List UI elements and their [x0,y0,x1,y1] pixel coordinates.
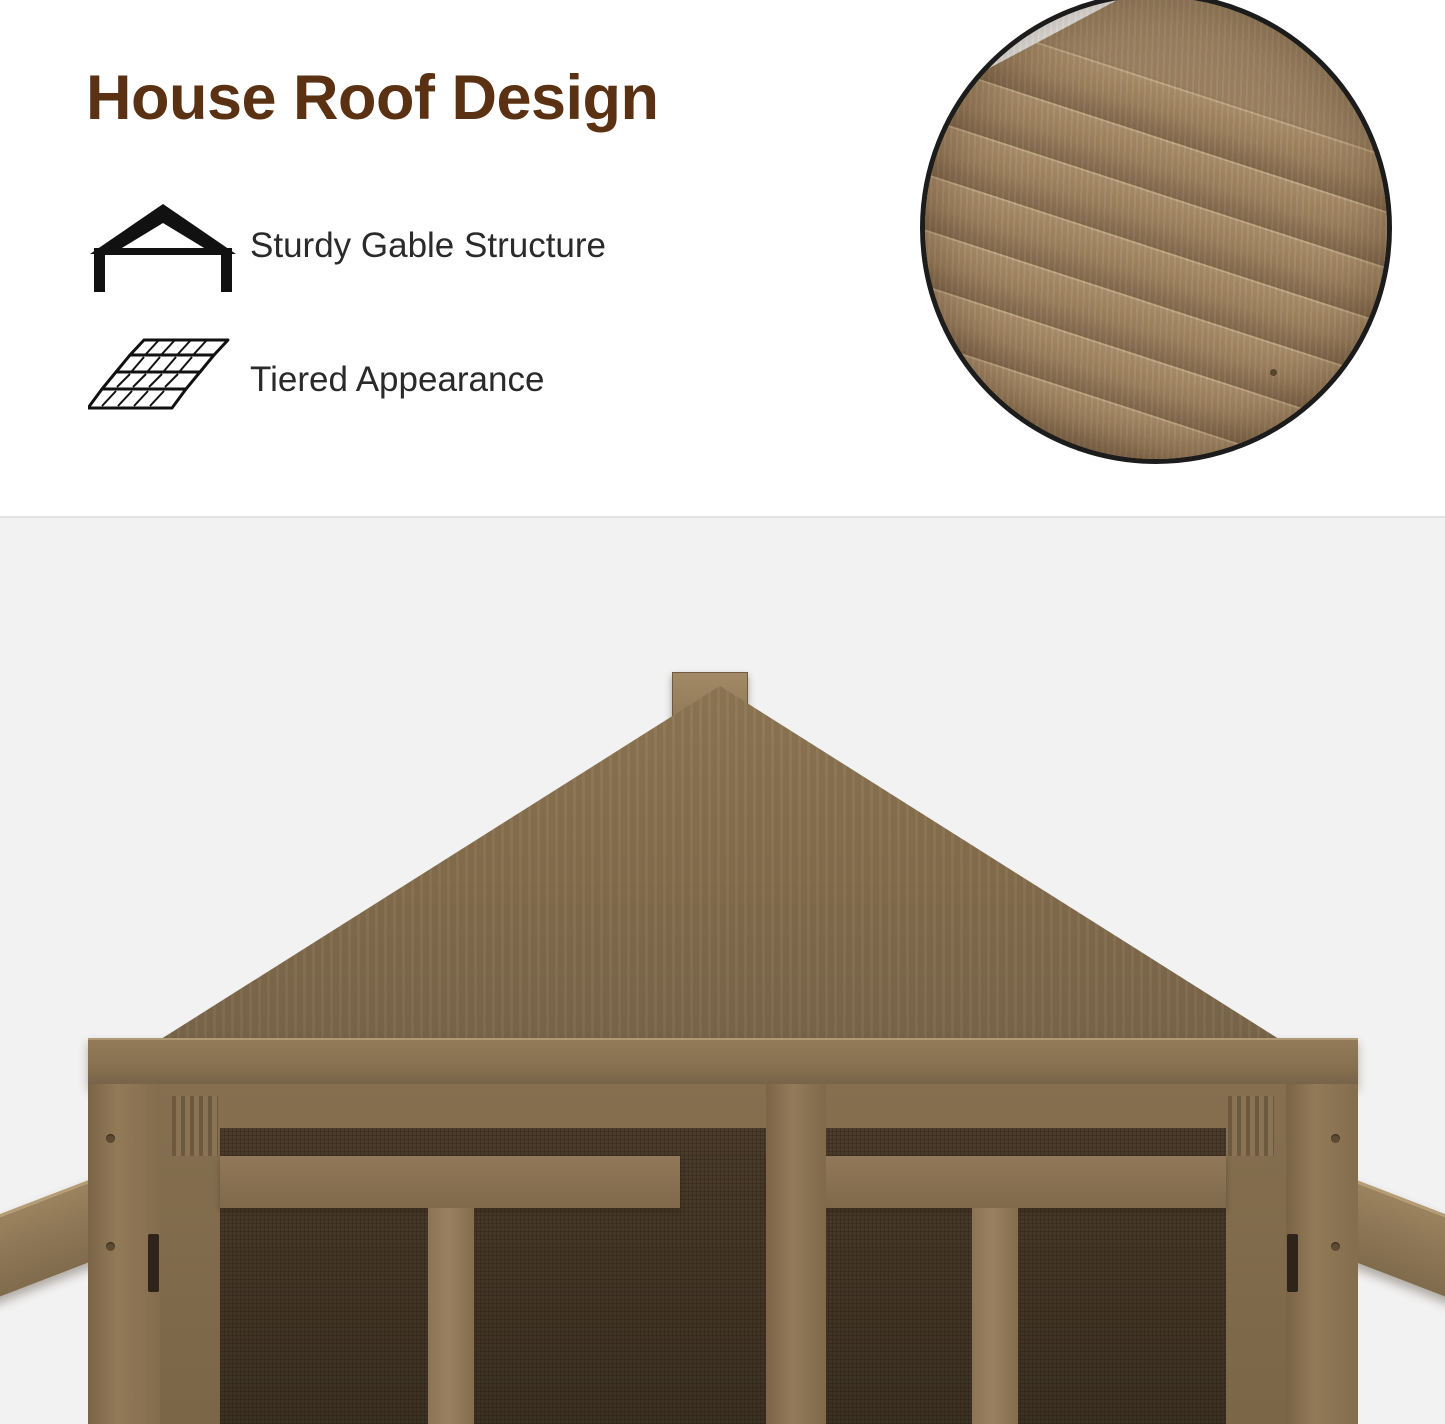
door-rail-right [766,1156,1226,1208]
top-info-panel: House Roof Design Sturdy Gable Structure [0,0,1445,516]
vent-slats-right [1228,1096,1274,1156]
gable-face [150,686,1290,1046]
screw-head [106,1134,115,1143]
wooden-shed-roof-photo [0,518,1445,1424]
door-rail-left [220,1156,680,1208]
vent-slats-left [172,1096,218,1156]
screw-head [106,1242,115,1251]
page-title: House Roof Design [86,62,659,134]
feature-label-tiered: Tiered Appearance [250,360,544,400]
door-hinge-left [148,1234,159,1292]
roof-shingle-closeup-photo [920,0,1392,464]
door-frame [160,1084,1286,1424]
screw-head [1331,1134,1340,1143]
shed-illustration [0,518,1445,1424]
header-beam [88,1038,1358,1086]
feature-label-gable: Sturdy Gable Structure [250,226,606,266]
door-hinge-right [1287,1234,1298,1292]
feature-row-tiered: Tiered Appearance [88,330,544,430]
cabinet-body [88,1084,1358,1424]
tiered-boards-icon [88,330,238,430]
door-stile-right [972,1208,1018,1424]
gable-roof-icon [88,196,238,296]
screw-head [1331,1242,1340,1251]
feature-row-gable: Sturdy Gable Structure [88,196,606,296]
door-stile-left [428,1208,474,1424]
center-mullion [766,1084,826,1424]
